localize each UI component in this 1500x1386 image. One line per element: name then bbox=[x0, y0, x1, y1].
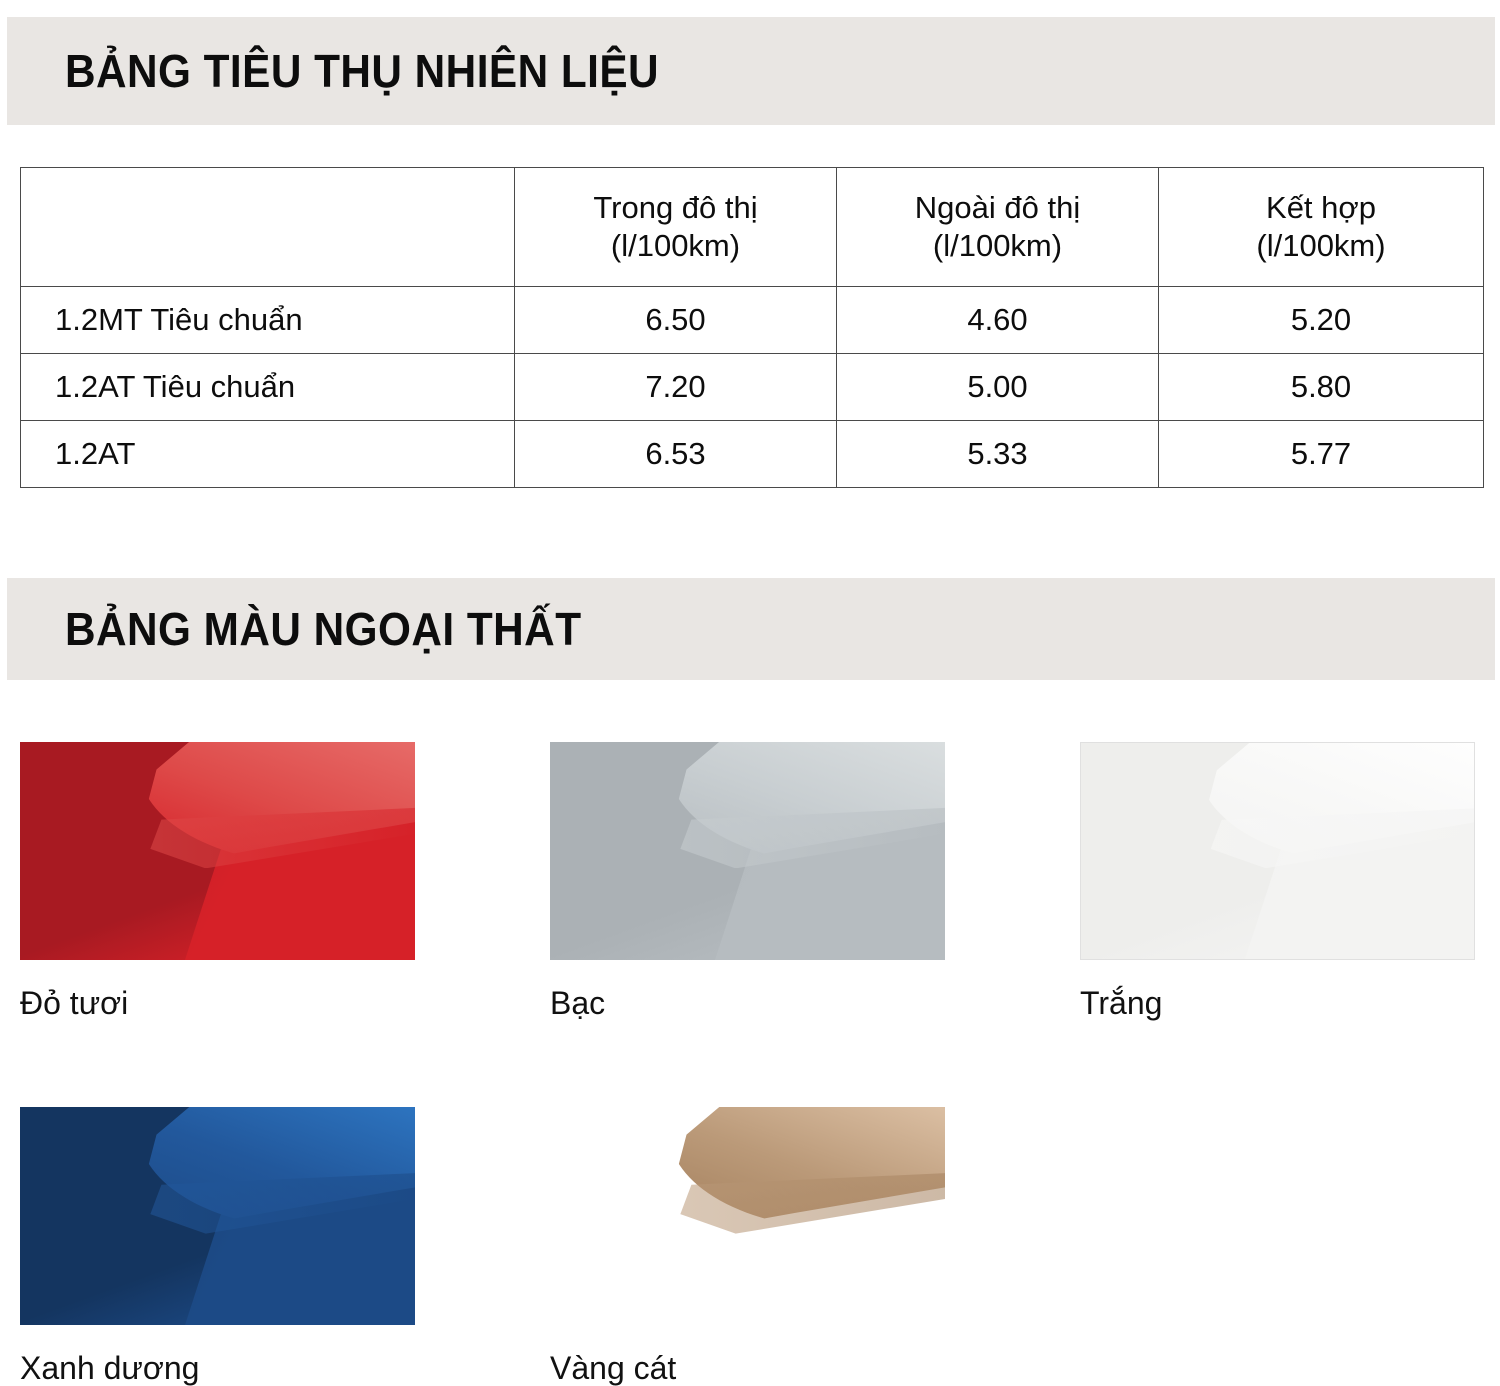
cell-combined: 5.20 bbox=[1159, 287, 1484, 354]
cell-extra-urban: 4.60 bbox=[837, 287, 1159, 354]
color-swatch-item[interactable]: Xanh dương bbox=[20, 1107, 415, 1386]
exterior-color-section-title: BẢNG MÀU NGOẠI THẤT bbox=[7, 605, 582, 653]
color-swatch-label: Xanh dương bbox=[20, 1351, 415, 1386]
table-row: 1.2AT 6.53 5.33 5.77 bbox=[21, 421, 1484, 488]
column-header-combined: Kết hợp (l/100km) bbox=[1159, 168, 1484, 287]
color-swatch-item[interactable]: Đỏ tươi bbox=[20, 742, 415, 1021]
color-swatch-chip[interactable] bbox=[20, 742, 415, 960]
cell-combined: 5.77 bbox=[1159, 421, 1484, 488]
column-header-extra-urban: Ngoài đô thị (l/100km) bbox=[837, 168, 1159, 287]
table-header-row-group: Trong đô thị (l/100km) Ngoài đô thị (l/1… bbox=[21, 168, 1484, 287]
table-body: 1.2MT Tiêu chuẩn 6.50 4.60 5.20 1.2AT Ti… bbox=[21, 287, 1484, 488]
color-swatch-chip[interactable] bbox=[1080, 742, 1475, 960]
exterior-color-grid: Đỏ tươiBạcTrắngXanh dươngVàng cát bbox=[20, 742, 1490, 1386]
column-header-variant bbox=[21, 168, 515, 287]
table-row: 1.2MT Tiêu chuẩn 6.50 4.60 5.20 bbox=[21, 287, 1484, 354]
table-row: 1.2AT Tiêu chuẩn 7.20 5.00 5.80 bbox=[21, 354, 1484, 421]
cell-combined: 5.80 bbox=[1159, 354, 1484, 421]
cell-variant: 1.2MT Tiêu chuẩn bbox=[21, 287, 515, 354]
color-swatch-item[interactable]: Trắng bbox=[1080, 742, 1475, 1021]
fuel-section-header: BẢNG TIÊU THỤ NHIÊN LIỆU bbox=[7, 17, 1495, 125]
column-header-urban-line1: Trong đô thị bbox=[515, 189, 836, 227]
color-swatch-label: Vàng cát bbox=[550, 1351, 945, 1386]
column-header-urban-line2: (l/100km) bbox=[515, 227, 836, 265]
column-header-extra-urban-line2: (l/100km) bbox=[837, 227, 1158, 265]
color-swatch-label: Đỏ tươi bbox=[20, 986, 415, 1021]
color-swatch-item[interactable]: Bạc bbox=[550, 742, 945, 1021]
color-swatch-chip[interactable] bbox=[550, 742, 945, 960]
color-swatch-chip[interactable] bbox=[20, 1107, 415, 1325]
color-swatch-label: Trắng bbox=[1080, 986, 1475, 1021]
column-header-combined-line1: Kết hợp bbox=[1159, 189, 1483, 227]
table-header-row: Trong đô thị (l/100km) Ngoài đô thị (l/1… bbox=[21, 168, 1484, 287]
column-header-urban: Trong đô thị (l/100km) bbox=[515, 168, 837, 287]
cell-variant: 1.2AT bbox=[21, 421, 515, 488]
color-swatch-label: Bạc bbox=[550, 986, 945, 1021]
cell-urban: 7.20 bbox=[515, 354, 837, 421]
column-header-extra-urban-line1: Ngoài đô thị bbox=[837, 189, 1158, 227]
exterior-color-section-header: BẢNG MÀU NGOẠI THẤT bbox=[7, 578, 1495, 680]
cell-urban: 6.50 bbox=[515, 287, 837, 354]
cell-extra-urban: 5.33 bbox=[837, 421, 1159, 488]
color-swatch-chip[interactable] bbox=[550, 1107, 945, 1325]
column-header-combined-line2: (l/100km) bbox=[1159, 227, 1483, 265]
cell-variant: 1.2AT Tiêu chuẩn bbox=[21, 354, 515, 421]
color-swatch-item[interactable]: Vàng cát bbox=[550, 1107, 945, 1386]
fuel-section-title: BẢNG TIÊU THỤ NHIÊN LIỆU bbox=[7, 47, 659, 95]
cell-urban: 6.53 bbox=[515, 421, 837, 488]
fuel-consumption-table: Trong đô thị (l/100km) Ngoài đô thị (l/1… bbox=[20, 167, 1484, 488]
cell-extra-urban: 5.00 bbox=[837, 354, 1159, 421]
fuel-consumption-table-container: Trong đô thị (l/100km) Ngoài đô thị (l/1… bbox=[20, 167, 1483, 488]
